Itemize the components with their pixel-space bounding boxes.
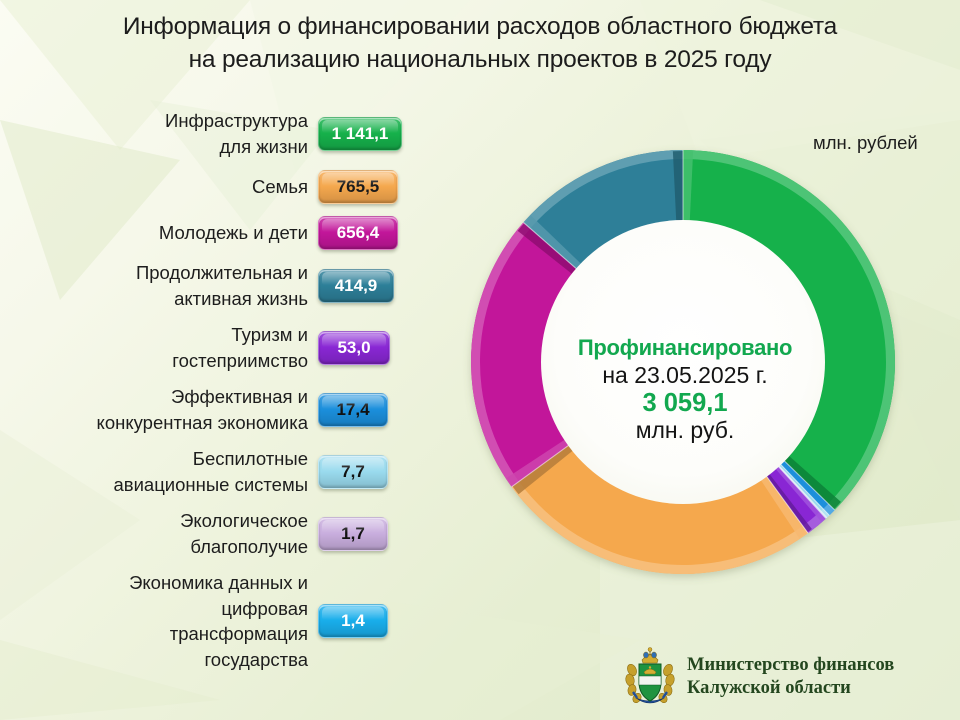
- legend-item-label: Экологическое благополучие: [0, 508, 318, 559]
- legend-item-label: Туризм и гостеприимство: [0, 322, 318, 373]
- legend-row: Семья765,5: [0, 170, 420, 204]
- legend-row: Экологическое благополучие1,7: [0, 508, 420, 559]
- page-title: Информация о финансировании расходов обл…: [0, 10, 960, 76]
- center-total-value: 3 059,1: [560, 390, 810, 417]
- center-date-label: на 23.05.2025 г.: [560, 363, 810, 388]
- title-line-1: Информация о финансировании расходов обл…: [0, 10, 960, 43]
- legend-item-label: Молодежь и дети: [0, 220, 318, 246]
- legend-item-label: Беспилотные авиационные системы: [0, 446, 318, 497]
- legend-value-badge: 765,5: [318, 170, 398, 204]
- legend-row: Эффективная и конкурентная экономика17,4: [0, 384, 420, 435]
- legend-item-label: Эффективная и конкурентная экономика: [0, 384, 318, 435]
- legend-value-badge: 17,4: [318, 393, 388, 427]
- legend-row: Экономика данных и цифровая трансформаци…: [0, 570, 420, 672]
- legend-row: Инфраструктура для жизни1 141,1: [0, 108, 420, 159]
- legend-row: Беспилотные авиационные системы7,7: [0, 446, 420, 497]
- legend-value-badge: 1 141,1: [318, 117, 402, 151]
- legend-row: Туризм и гостеприимство53,0: [0, 322, 420, 373]
- legend-value-badge: 1,4: [318, 604, 388, 638]
- ministry-name: Министерство финансов Калужской области: [687, 654, 894, 700]
- legend-item-label: Семья: [0, 174, 318, 200]
- center-financed-label: Профинансировано: [560, 336, 810, 360]
- legend-item-label: Экономика данных и цифровая трансформаци…: [0, 570, 318, 672]
- infographic-slide: Информация о финансировании расходов обл…: [0, 0, 960, 720]
- legend-item-label: Продолжительная и активная жизнь: [0, 260, 318, 311]
- legend-value-badge: 1,7: [318, 517, 388, 551]
- ministry-logo: Министерство финансов Калужской области: [624, 646, 894, 708]
- legend-value-badge: 53,0: [318, 331, 390, 365]
- legend-row: Продолжительная и активная жизнь414,9: [0, 260, 420, 311]
- title-line-2: на реализацию национальных проектов в 20…: [0, 43, 960, 76]
- donut-center-text: Профинансировано на 23.05.2025 г. 3 059,…: [560, 336, 810, 443]
- legend-item-label: Инфраструктура для жизни: [0, 108, 318, 159]
- kaluga-coat-of-arms-icon: [624, 646, 676, 708]
- center-units-label: млн. руб.: [560, 418, 810, 443]
- legend-value-badge: 656,4: [318, 216, 398, 250]
- legend-value-badge: 7,7: [318, 455, 388, 489]
- legend-row: Молодежь и дети656,4: [0, 216, 420, 250]
- legend-value-badge: 414,9: [318, 269, 394, 303]
